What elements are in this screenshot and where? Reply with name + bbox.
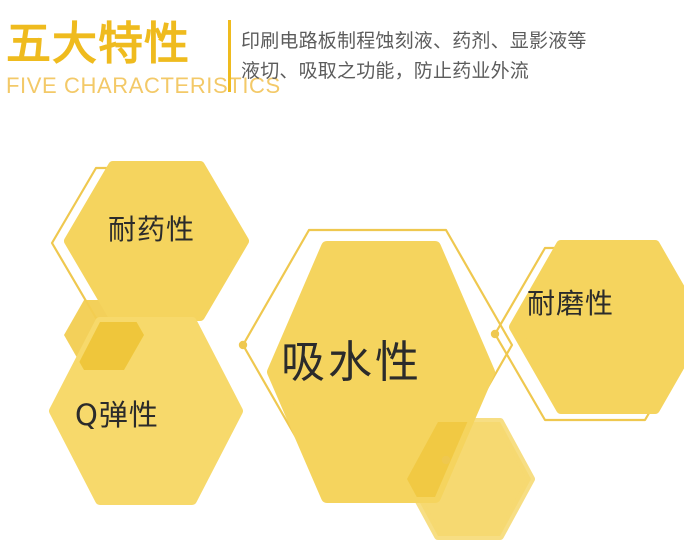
connector-line-bottom <box>442 456 450 464</box>
hexagon-q-elasticity[interactable] <box>54 322 238 500</box>
connector-dot <box>491 330 499 338</box>
feature-hexagon-infographic: 五大特性 FIVE CHARACTERISTICS 印刷电路板制程蚀刻液、药剂、… <box>0 0 684 552</box>
hexagon-wear-resistance[interactable] <box>514 245 684 409</box>
connector-dot <box>239 341 247 349</box>
hexagon-chemical-resistance[interactable] <box>69 166 244 316</box>
connector-dot <box>442 456 450 464</box>
hexagon-graphics <box>0 0 684 552</box>
hexagon-stage: 耐药性 Q弹性 吸水性 耐磨性 <box>0 0 684 552</box>
